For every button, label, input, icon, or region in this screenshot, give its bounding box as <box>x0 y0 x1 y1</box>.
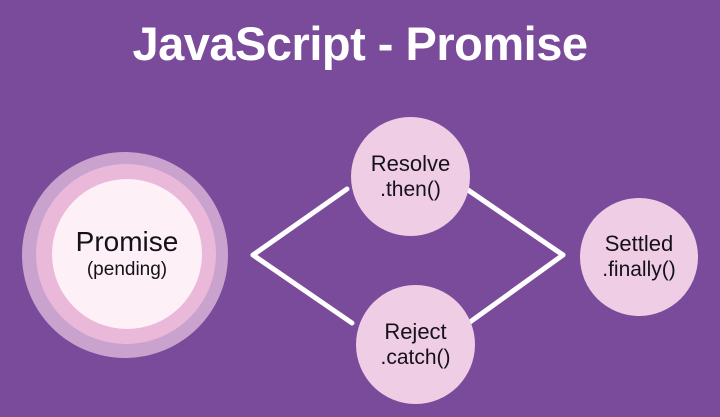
diagram-canvas: JavaScript - Promise Promise (pending) R… <box>0 0 720 417</box>
resolve-node-method: .then() <box>380 177 441 203</box>
settled-node-label: Settled <box>605 231 674 257</box>
edge-reject-to-settled <box>470 255 563 322</box>
promise-node-state: (pending) <box>87 258 167 282</box>
promise-node[interactable]: Promise (pending) <box>22 152 228 358</box>
settled-node-method: .finally() <box>602 257 676 283</box>
reject-node[interactable]: Reject .catch() <box>356 285 475 404</box>
edge-promise-to-reject <box>253 255 352 323</box>
promise-node-label: Promise <box>76 226 179 258</box>
resolve-node-label: Resolve <box>371 151 450 177</box>
reject-node-method: .catch() <box>380 345 450 371</box>
promise-node-ring-middle: Promise (pending) <box>36 164 216 344</box>
resolve-node[interactable]: Resolve .then() <box>351 117 470 236</box>
settled-node[interactable]: Settled .finally() <box>580 198 698 316</box>
promise-node-core: Promise (pending) <box>52 179 202 329</box>
edge-promise-to-resolve <box>253 189 347 255</box>
edge-resolve-to-settled <box>468 190 563 255</box>
reject-node-label: Reject <box>384 319 446 345</box>
